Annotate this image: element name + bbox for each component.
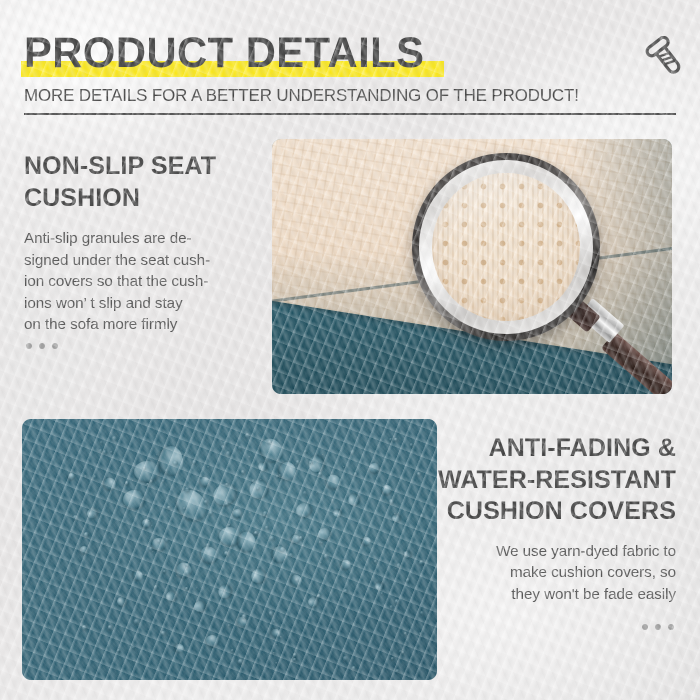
water-mist-droplet: [163, 570, 167, 574]
water-mist-droplet: [132, 480, 134, 482]
water-mist-droplet: [162, 480, 165, 483]
water-mist-droplet: [132, 646, 135, 649]
water-mist-droplet: [207, 466, 209, 468]
water-droplet: [101, 476, 117, 492]
water-mist-droplet: [318, 472, 322, 476]
water-mist-droplet: [125, 481, 129, 485]
water-mist-droplet: [280, 636, 282, 638]
water-droplet: [85, 505, 100, 520]
water-mist-droplet: [270, 536, 275, 541]
water-mist-droplet: [73, 515, 78, 520]
water-droplet: [159, 446, 184, 476]
water-mist-droplet: [289, 553, 293, 557]
decor-dot: [39, 343, 45, 349]
water-mist-droplet: [277, 577, 279, 579]
section-body-anti-fading: We use yarn-dyed fabric to make cushion …: [426, 541, 676, 606]
water-mist-droplet: [343, 656, 347, 660]
water-mist-droplet: [269, 611, 273, 615]
water-droplet: [317, 526, 333, 541]
water-mist-droplet: [176, 575, 178, 577]
water-mist-droplet: [173, 461, 178, 466]
water-mist-droplet: [404, 551, 409, 556]
section-title-line: CUSHION: [24, 183, 259, 215]
water-mist-droplet: [150, 480, 153, 483]
water-mist-droplet: [292, 511, 294, 513]
water-mist-droplet: [165, 469, 168, 472]
water-mist-droplet: [104, 543, 106, 545]
water-droplet: [323, 471, 343, 491]
water-mist-droplet: [226, 451, 231, 456]
water-mist-droplet: [185, 487, 190, 492]
water-mist-droplet: [252, 479, 255, 482]
water-droplet: [175, 644, 184, 653]
water-mist-droplet: [152, 551, 155, 554]
section-body-line: on the sofa more firmly: [24, 314, 259, 336]
section-title-anti-fading: ANTI-FADING & WATER-RESISTANT CUSHION CO…: [426, 433, 676, 528]
water-droplet: [123, 490, 146, 510]
water-mist-droplet: [420, 514, 424, 518]
water-mist-droplet: [209, 511, 213, 515]
decor-dot: [26, 343, 32, 349]
water-mist-droplet: [103, 450, 107, 454]
page-subtitle: MORE DETAILS FOR A BETTER UNDERSTANDING …: [24, 84, 653, 106]
section-title-line: CUSHION COVERS: [426, 496, 676, 528]
water-mist-droplet: [275, 547, 278, 550]
water-mist-droplet: [419, 632, 422, 635]
section-body-line: We use yarn-dyed fabric to: [426, 541, 676, 563]
water-mist-droplet: [419, 560, 424, 565]
water-mist-droplet: [221, 445, 225, 449]
section-title-line: NON-SLIP SEAT: [24, 151, 259, 183]
section-title-line: ANTI-FADING &: [426, 433, 676, 465]
section-non-slip-seat-cushion: NON-SLIP SEAT CUSHION Anti-slip granules…: [24, 151, 259, 336]
water-mist-droplet: [241, 470, 246, 475]
water-mist-droplet: [187, 517, 189, 519]
water-mist-droplet: [93, 475, 97, 479]
water-mist-droplet: [303, 491, 307, 495]
water-mist-droplet: [254, 531, 258, 535]
decor-dots-right: [642, 624, 674, 630]
water-mist-droplet: [98, 599, 100, 601]
water-mist-droplet: [206, 543, 210, 547]
water-mist-droplet: [183, 507, 185, 509]
water-mist-droplet: [185, 563, 188, 566]
water-mist-droplet: [185, 587, 188, 590]
page-title: PRODUCT DETAILS: [24, 30, 424, 77]
water-droplets-photo: [22, 419, 437, 680]
water-mist-droplet: [406, 578, 410, 582]
section-body-line: Anti-slip granules are de-: [24, 228, 259, 250]
water-mist-droplet: [167, 506, 171, 510]
water-mist-droplet: [84, 475, 87, 478]
water-droplet: [375, 582, 383, 590]
water-mist-droplet: [381, 592, 384, 595]
water-mist-droplet: [302, 545, 304, 547]
water-mist-droplet: [330, 628, 333, 631]
water-mist-droplet: [154, 585, 158, 589]
water-mist-droplet: [389, 499, 394, 504]
water-mist-droplet: [352, 666, 356, 670]
water-mist-droplet: [112, 436, 117, 441]
magnifying-glass-icon: [412, 153, 600, 341]
water-mist-droplet: [260, 479, 262, 481]
decor-dot: [655, 624, 661, 630]
water-mist-droplet: [317, 594, 321, 598]
magnifier-lens: [432, 173, 580, 321]
section-body-line: ion covers so that the cush-: [24, 271, 259, 293]
cushion-magnifier-photo: [272, 139, 672, 394]
water-mist-droplet: [319, 541, 321, 543]
water-mist-droplet: [389, 438, 393, 442]
water-droplet: [171, 484, 213, 527]
decor-dot: [642, 624, 648, 630]
water-mist-droplet: [110, 451, 113, 454]
section-body-line: make cushion covers, so: [426, 562, 676, 584]
water-mist-droplet: [185, 570, 190, 575]
water-mist-droplet: [133, 660, 135, 662]
water-mist-droplet: [149, 593, 151, 595]
water-droplet: [164, 589, 179, 604]
water-mist-droplet: [331, 499, 335, 503]
water-mist-droplet: [322, 454, 324, 456]
water-mist-droplet: [276, 644, 278, 646]
water-mist-droplet: [249, 512, 251, 514]
water-mist-droplet: [161, 631, 165, 635]
magnifier-inner-ring: [419, 160, 593, 334]
water-droplet: [279, 461, 296, 481]
water-droplet: [236, 531, 255, 553]
section-body-line: ions won’ t slip and stay: [24, 293, 259, 315]
water-mist-droplet: [417, 472, 421, 476]
water-mist-droplet: [80, 618, 83, 621]
water-mist-droplet: [242, 614, 247, 619]
water-mist-droplet: [231, 649, 234, 652]
water-droplet: [141, 518, 152, 529]
water-mist-droplet: [404, 632, 407, 635]
water-mist-droplet: [263, 514, 266, 517]
water-mist-droplet: [395, 568, 397, 570]
water-mist-droplet: [394, 438, 397, 441]
water-droplet: [79, 544, 90, 555]
header-divider: [24, 113, 676, 115]
water-droplet: [333, 508, 342, 517]
water-mist-droplet: [121, 463, 123, 465]
water-mist-droplet: [316, 492, 318, 494]
water-mist-droplet: [276, 475, 279, 478]
water-mist-droplet: [344, 589, 348, 593]
water-droplet: [369, 463, 381, 475]
water-mist-droplet: [273, 652, 275, 654]
water-mist-droplet: [265, 526, 268, 529]
water-droplet: [116, 596, 128, 608]
water-mist-droplet: [238, 659, 243, 664]
section-title-line: WATER-RESISTANT: [426, 465, 676, 497]
water-mist-droplet: [84, 532, 89, 537]
water-mist-droplet: [299, 536, 303, 540]
section-title-non-slip: NON-SLIP SEAT CUSHION: [24, 151, 259, 214]
water-droplet: [361, 536, 372, 547]
water-mist-droplet: [273, 620, 276, 623]
water-droplet: [294, 500, 315, 521]
section-anti-fading-water-resistant: ANTI-FADING & WATER-RESISTANT CUSHION CO…: [426, 433, 676, 605]
water-mist-droplet: [156, 454, 158, 456]
water-mist-droplet: [420, 611, 424, 615]
water-mist-droplet: [117, 649, 120, 652]
water-droplet: [339, 559, 351, 572]
water-mist-droplet: [343, 466, 345, 468]
water-mist-droplet: [280, 547, 285, 552]
water-mist-droplet: [225, 483, 229, 487]
water-mist-droplet: [82, 625, 87, 630]
section-body-line: they won't be fade easily: [426, 584, 676, 606]
water-mist-droplet: [410, 443, 414, 447]
water-mist-droplet: [248, 456, 250, 458]
water-mist-droplet: [196, 587, 198, 589]
water-droplet: [232, 508, 243, 518]
infographic-page: PRODUCT DETAILS MORE DETAILS FOR A BETTE…: [0, 0, 700, 700]
water-mist-droplet: [321, 542, 323, 544]
water-mist-droplet: [324, 554, 328, 558]
water-mist-droplet: [350, 450, 355, 455]
water-mist-droplet: [99, 449, 102, 452]
water-mist-droplet: [224, 551, 229, 556]
water-mist-droplet: [198, 490, 200, 492]
decor-dots-left: [26, 343, 58, 349]
water-mist-droplet: [204, 500, 208, 504]
water-mist-droplet: [134, 619, 138, 623]
water-mist-droplet: [145, 574, 147, 576]
water-droplet: [205, 633, 221, 648]
water-mist-droplet: [165, 538, 169, 542]
section-body-line: signed under the seat cush-: [24, 250, 259, 272]
water-droplet: [133, 460, 160, 482]
water-mist-droplet: [192, 460, 196, 464]
water-mist-droplet: [228, 624, 231, 627]
water-mist-droplet: [320, 562, 322, 564]
water-mist-droplet: [275, 662, 278, 665]
water-mist-droplet: [238, 446, 242, 450]
water-mist-droplet: [151, 525, 153, 527]
water-droplet: [133, 571, 143, 581]
water-droplet: [198, 475, 212, 489]
water-mist-droplet: [296, 460, 300, 464]
water-droplet: [248, 565, 268, 585]
header: PRODUCT DETAILS MORE DETAILS FOR A BETTE…: [24, 30, 676, 115]
decor-dot: [52, 343, 58, 349]
water-mist-droplet: [304, 450, 306, 452]
water-mist-droplet: [396, 669, 399, 672]
water-mist-droplet: [415, 528, 417, 530]
water-droplet: [173, 560, 194, 581]
water-mist-droplet: [143, 466, 146, 469]
water-mist-droplet: [374, 560, 377, 563]
water-droplet: [346, 492, 362, 508]
water-mist-droplet: [391, 657, 394, 660]
water-mist-droplet: [108, 625, 112, 629]
water-mist-droplet: [91, 468, 93, 470]
water-mist-droplet: [293, 658, 296, 661]
water-mist-droplet: [395, 599, 400, 604]
water-droplets-layer: [22, 419, 437, 680]
water-droplet: [380, 483, 394, 497]
screw-icon: [642, 36, 686, 80]
water-droplet: [257, 460, 268, 472]
water-mist-droplet: [390, 605, 393, 608]
water-mist-droplet: [402, 651, 405, 654]
water-mist-droplet: [295, 578, 299, 582]
water-mist-droplet: [354, 472, 357, 475]
water-droplet: [192, 599, 208, 615]
water-droplet: [216, 582, 234, 600]
water-droplet: [271, 628, 280, 637]
water-mist-droplet: [245, 433, 250, 438]
water-mist-droplet: [268, 440, 272, 444]
magnifier-rim: [412, 153, 600, 341]
water-mist-droplet: [225, 502, 229, 506]
decor-dot: [668, 624, 674, 630]
section-body-non-slip: Anti-slip granules are de- signed under …: [24, 228, 259, 336]
water-droplet: [67, 472, 77, 482]
water-mist-droplet: [100, 441, 103, 444]
water-mist-droplet: [293, 653, 297, 657]
water-mist-droplet: [146, 483, 150, 487]
water-mist-droplet: [397, 563, 401, 567]
page-title-wrap: PRODUCT DETAILS: [24, 30, 437, 77]
